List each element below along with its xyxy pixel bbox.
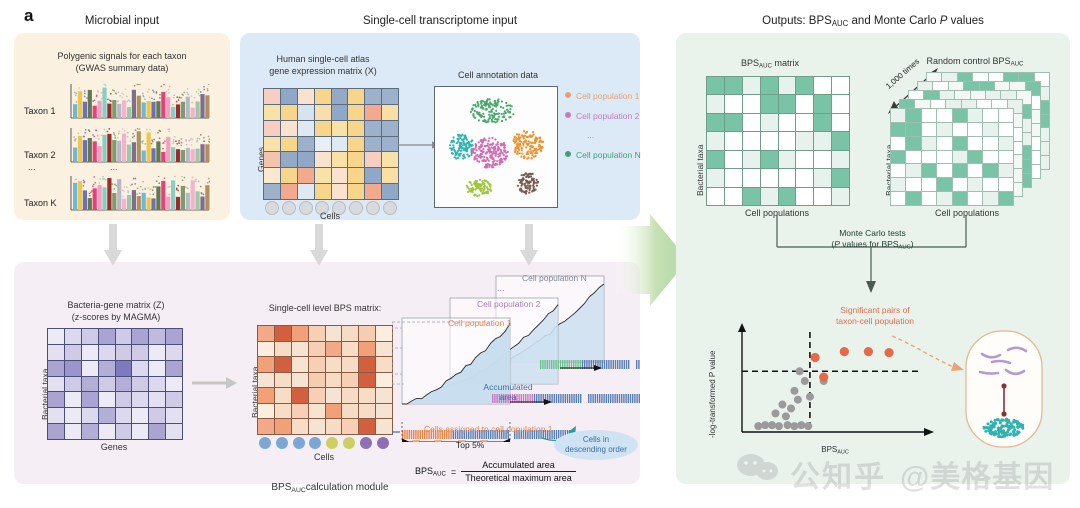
- tsne-point: [505, 102, 507, 104]
- tsne-point: [497, 100, 499, 102]
- manhattan-bar: [73, 104, 77, 118]
- tsne-point: [501, 100, 503, 102]
- manhattan-bar: [156, 141, 160, 162]
- tsne-point: [491, 121, 493, 123]
- zmatrix-caption: Bacteria-gene matrix (Z) (z-scores by MA…: [26, 300, 206, 323]
- cell-population-point: [1013, 426, 1016, 429]
- bps-matrix-caption: Single-cell level BPS matrix:: [240, 303, 410, 315]
- manhattan-bar: [117, 104, 121, 118]
- matrix-cell: [743, 169, 760, 186]
- manhattan-bar: [107, 104, 111, 118]
- matrix-cell: [99, 377, 115, 392]
- matrix-cell: [281, 105, 297, 120]
- cell-population-point: [994, 419, 997, 422]
- matrix-cell: [99, 408, 115, 423]
- matrix-cell: [82, 361, 98, 376]
- matrix-cell: [275, 342, 291, 357]
- matrix-cell: [65, 329, 81, 344]
- manhattan-bar: [98, 185, 102, 210]
- monte-carlo-connector: [700, 215, 1030, 295]
- tsne-point: [500, 151, 502, 153]
- matrix-cell: [922, 123, 936, 136]
- matrix-cell: [953, 109, 967, 122]
- matrix-cell: [382, 184, 398, 199]
- tsne-point: [528, 192, 530, 194]
- manhattan-bar: [147, 133, 151, 163]
- matrix-cell: [906, 151, 920, 164]
- matrix-cell: [953, 192, 967, 205]
- matrix-cell: [707, 151, 724, 168]
- tsne-point: [486, 186, 488, 188]
- tsne-point: [540, 150, 542, 152]
- manhattan-bar: [102, 88, 106, 118]
- matrix-cell: [332, 121, 348, 136]
- arrow-z-to-bps: [192, 376, 238, 390]
- bps-module-label: BPSAUCcalculation module: [200, 482, 460, 494]
- matrix-cell: [365, 105, 381, 120]
- matrix-cell: [65, 424, 81, 439]
- tsne-point: [527, 175, 529, 177]
- matrix-cell: [761, 114, 778, 131]
- tsne-point: [534, 140, 536, 142]
- manhattan-bar: [117, 141, 121, 162]
- manhattan-bar: [171, 147, 175, 162]
- tsne-point: [483, 187, 485, 189]
- tsne-point: [522, 142, 524, 144]
- matrix-cell: [348, 121, 364, 136]
- tsne-point: [467, 191, 469, 193]
- manhattan-bar: [166, 97, 170, 118]
- matrix-cell: [275, 388, 291, 403]
- matrix-cell: [761, 132, 778, 149]
- tsne-point: [460, 149, 462, 151]
- manhattan-bar: [137, 196, 141, 210]
- tsne-point: [505, 118, 507, 120]
- matrix-cell: [82, 329, 98, 344]
- tsne-point: [507, 104, 509, 106]
- matrix-cell: [707, 188, 724, 205]
- taxon-ellipsis: ...: [110, 162, 118, 172]
- tsne-point: [542, 146, 544, 148]
- tsne-point: [496, 160, 498, 162]
- matrix-cell: [332, 168, 348, 183]
- matrix-cell: [116, 408, 132, 423]
- matrix-cell: [814, 188, 831, 205]
- matrix-cell: [761, 151, 778, 168]
- matrix-cell: [359, 357, 375, 372]
- matrix-cell: [359, 342, 375, 357]
- volcano-point: [796, 367, 804, 375]
- matrix-cell: [922, 164, 936, 177]
- auc-curve-stack: .........: [392, 262, 640, 442]
- manhattan-bar: [142, 193, 146, 210]
- manhattan-bar: [137, 96, 141, 118]
- matrix-cell: [814, 77, 831, 94]
- volcano-xlabel: BPSAUC: [790, 445, 880, 456]
- matrix-cell: [376, 388, 392, 403]
- matrix-cell: [779, 188, 796, 205]
- matrix-cell: [298, 89, 314, 104]
- tsne-point: [451, 152, 453, 154]
- matrix-cell: [725, 95, 742, 112]
- matrix-cell: [891, 164, 905, 177]
- volcano-point: [806, 393, 814, 401]
- tsne-point: [485, 103, 487, 105]
- tsne-point: [474, 117, 476, 119]
- matrix-cell: [149, 392, 165, 407]
- tsne-point: [496, 163, 498, 165]
- bacteria-gene-matrix: [47, 328, 183, 440]
- matrix-cell: [382, 105, 398, 120]
- matrix-cell: [116, 345, 132, 360]
- tsne-point: [466, 150, 468, 152]
- matrix-cell: [315, 121, 331, 136]
- tsne-point: [486, 101, 488, 103]
- tsne-point: [451, 149, 453, 151]
- accumulated-area-label: Accumulatedarea: [470, 383, 546, 403]
- matrix-cell: [906, 137, 920, 150]
- manhattan-bar: [122, 199, 126, 210]
- tsne-point: [474, 110, 476, 112]
- curve-ellipsis: ...: [497, 283, 505, 293]
- tsne-point: [515, 148, 517, 150]
- matrix-cell: [99, 392, 115, 407]
- matrix-cell: [275, 357, 291, 372]
- tsne-point: [497, 103, 499, 105]
- tsne-point: [480, 139, 482, 141]
- matrix-cell: [309, 357, 325, 372]
- matrix-cell: [258, 342, 274, 357]
- manhattan-bar: [142, 102, 146, 118]
- matrix-cell: [298, 105, 314, 120]
- matrix-cell: [983, 192, 997, 205]
- matrix-cell: [166, 408, 182, 423]
- tsne-point: [530, 181, 532, 183]
- tsne-point: [483, 156, 485, 158]
- matrix-cell: [275, 419, 291, 434]
- matrix-cell: [342, 357, 358, 372]
- volcano-point: [772, 409, 780, 417]
- matrix-cell: [298, 184, 314, 199]
- tsne-point: [492, 108, 494, 110]
- manhattan-bar: [122, 134, 126, 163]
- tsne-point: [525, 139, 527, 141]
- matrix-cell: [743, 151, 760, 168]
- volcano-point: [804, 422, 812, 430]
- manhattan-bar: [186, 148, 190, 162]
- matrix-cell: [326, 357, 342, 372]
- matrix-cell: [937, 164, 951, 177]
- matrix-cell: [707, 95, 724, 112]
- tsne-point: [466, 154, 468, 156]
- tsne-point: [520, 141, 522, 143]
- tsne-point: [504, 159, 506, 161]
- manhattan-plot: [70, 128, 210, 164]
- tsne-point: [475, 149, 477, 151]
- tsne-point: [478, 194, 480, 196]
- tsne-point: [508, 116, 510, 118]
- tsne-point: [449, 144, 451, 146]
- matrix-cell: [132, 392, 148, 407]
- tsne-point: [492, 104, 494, 106]
- matrix-cell: [166, 345, 182, 360]
- tsne-point: [529, 136, 531, 138]
- tsne-caption: Cell annotation data: [418, 70, 578, 82]
- tsne-point: [532, 146, 534, 148]
- matrix-cell: [999, 137, 1013, 150]
- tsne-point: [488, 140, 490, 142]
- matrix-cell: [99, 424, 115, 439]
- tsne-point: [457, 134, 459, 136]
- matrix-cell: [264, 152, 280, 167]
- manhattan-bar: [171, 107, 175, 118]
- manhattan-bar: [156, 101, 160, 118]
- matrix-cell: [149, 377, 165, 392]
- bps-auc-matrix-ylabel: Bacterial taxa: [695, 145, 705, 197]
- tsne-point: [494, 102, 496, 104]
- tsne-point: [459, 145, 461, 147]
- tsne-point: [477, 102, 479, 104]
- descending-order-callout: Cells indescending order: [554, 430, 638, 460]
- volcano-point: [801, 377, 809, 385]
- matrix-cell: [48, 392, 64, 407]
- volcano-point: [754, 422, 762, 430]
- cell-population-1-label: Cell population 1: [448, 318, 511, 328]
- matrix-cell: [315, 105, 331, 120]
- matrix-cell: [48, 345, 64, 360]
- tsne-point: [492, 142, 494, 144]
- tsne-point: [472, 104, 474, 106]
- manhattan-bar: [102, 187, 106, 210]
- matrix-cell: [983, 109, 997, 122]
- manhattan-bar: [73, 183, 77, 210]
- legend-dot-icon: [565, 151, 571, 157]
- manhattan-plots: Taxon 1Taxon 2Taxon K......: [24, 84, 220, 212]
- manhattan-bar: [132, 90, 136, 118]
- manhattan-bar: [196, 101, 200, 118]
- tsne-point: [494, 160, 496, 162]
- tsne-point: [528, 143, 530, 145]
- matrix-cell: [281, 168, 297, 183]
- cell-population-point: [1012, 421, 1015, 424]
- tsne-point: [513, 138, 515, 140]
- tsne-point: [520, 180, 522, 182]
- cell-population-point: [1016, 425, 1019, 428]
- matrix-cell: [258, 357, 274, 372]
- matrix-cell: [258, 388, 274, 403]
- manhattan-bar: [127, 195, 131, 210]
- cell-population-point: [1003, 425, 1006, 428]
- cell-population-point: [987, 422, 990, 425]
- tsne-point: [519, 143, 521, 145]
- matrix-cell: [65, 345, 81, 360]
- matrix-cell: [264, 184, 280, 199]
- matrix-cell: [258, 326, 274, 341]
- manhattan-bar: [166, 197, 170, 210]
- tsne-point: [500, 161, 502, 163]
- arrow-sc-to-calc-1: [310, 224, 328, 268]
- manhattan-bar: [161, 152, 165, 162]
- manhattan-bar: [73, 148, 77, 163]
- tsne-point: [481, 180, 483, 182]
- matrix-cell: [999, 151, 1013, 164]
- tsne-point: [474, 156, 476, 158]
- tsne-point: [481, 100, 483, 102]
- taxon-label: Taxon 1: [24, 106, 56, 116]
- matrix-cell: [707, 77, 724, 94]
- tsne-point: [487, 158, 489, 160]
- matrix-cell: [326, 404, 342, 419]
- manhattan-bar: [200, 144, 204, 162]
- matrix-cell: [725, 188, 742, 205]
- tsne-point: [514, 141, 516, 143]
- matrix-cell: [983, 164, 997, 177]
- tsne-point: [491, 166, 493, 168]
- tsne-point: [474, 188, 476, 190]
- bacterium-icon: [980, 372, 998, 374]
- tsne-point: [472, 151, 474, 153]
- tsne-point: [516, 144, 518, 146]
- matrix-cell: [953, 151, 967, 164]
- tsne-point: [509, 111, 511, 113]
- matrix-cell: [953, 137, 967, 150]
- tsne-point: [465, 144, 467, 146]
- tsne-point: [505, 152, 507, 154]
- matrix-cell: [342, 342, 358, 357]
- volcano-point: [782, 412, 790, 420]
- tsne-point: [523, 136, 525, 138]
- matrix-cell: [779, 77, 796, 94]
- tsne-point: [503, 154, 505, 156]
- matrix-cell: [359, 326, 375, 341]
- tsne-point: [516, 153, 518, 155]
- tsne-point: [455, 157, 457, 159]
- tsne-point: [494, 164, 496, 166]
- manhattan-bar: [93, 106, 97, 118]
- matrix-cell: [891, 109, 905, 122]
- matrix-cell: [149, 361, 165, 376]
- tsne-point: [500, 144, 502, 146]
- legend-label: Cell population 1: [576, 91, 639, 101]
- matrix-cell: [999, 123, 1013, 136]
- tsne-point: [480, 146, 482, 148]
- tsne-point: [534, 152, 536, 154]
- matrix-cell: [48, 408, 64, 423]
- bps-matrix-xlabel: Cells: [257, 452, 391, 462]
- tsne-point: [459, 137, 461, 139]
- manhattan-bar: [98, 101, 102, 118]
- matrix-cell: [796, 151, 813, 168]
- expression-matrix: [263, 88, 399, 200]
- tsne-point: [522, 144, 524, 146]
- cell-population-point: [997, 432, 1000, 435]
- tsne-point: [539, 140, 541, 142]
- matrix-cell: [332, 152, 348, 167]
- manhattan-bar: [200, 94, 204, 118]
- matrix-cell: [891, 123, 905, 136]
- cell-population-point: [1007, 425, 1010, 428]
- matrix-cell: [832, 132, 849, 149]
- matrix-cell: [814, 151, 831, 168]
- volcano-point-significant: [840, 347, 849, 356]
- manhattan-bar: [147, 198, 151, 210]
- matrix-cell: [149, 424, 165, 439]
- manhattan-bar: [122, 100, 126, 118]
- cell-dot: [293, 437, 305, 449]
- tsne-point: [519, 188, 521, 190]
- matrix-cell: [309, 388, 325, 403]
- matrix-cell: [309, 342, 325, 357]
- matrix-cell: [937, 109, 951, 122]
- tsne-point: [476, 158, 478, 160]
- matrix-cell: [332, 184, 348, 199]
- matrix-cell: [315, 152, 331, 167]
- tsne-point: [525, 187, 527, 189]
- tsne-point: [494, 118, 496, 120]
- cell-population-point: [1008, 433, 1011, 436]
- tsne-point: [511, 105, 513, 107]
- manhattan-bar: [161, 92, 165, 118]
- matrix-cell: [743, 77, 760, 94]
- matrix-cell: [906, 123, 920, 136]
- cell-population-point: [994, 430, 997, 433]
- matrix-cell: [275, 404, 291, 419]
- matrix-cell: [342, 373, 358, 388]
- matrix-cell: [922, 192, 936, 205]
- matrix-cell: [258, 373, 274, 388]
- tsne-point: [501, 158, 503, 160]
- cell-population-point: [1021, 425, 1024, 428]
- tsne-point: [495, 144, 497, 146]
- matrix-cell: [796, 132, 813, 149]
- tsne-point: [526, 180, 528, 182]
- matrix-cell: [281, 184, 297, 199]
- tsne-point: [525, 132, 527, 134]
- tsne-point: [493, 152, 495, 154]
- matrix-cell: [937, 178, 951, 191]
- tsne-point: [529, 173, 531, 175]
- matrix-cell: [315, 168, 331, 183]
- tsne-point: [495, 155, 497, 157]
- volcano-point: [768, 421, 776, 429]
- tsne-point: [493, 112, 495, 114]
- cell-population-point: [1006, 431, 1009, 434]
- tsne-point: [489, 98, 491, 100]
- tsne-point: [497, 141, 499, 143]
- tsne-point: [482, 148, 484, 150]
- tsne-point: [485, 192, 487, 194]
- tsne-point: [522, 177, 524, 179]
- manhattan-bar: [196, 191, 200, 210]
- matrix-cell: [968, 164, 982, 177]
- arrow-micro-to-calc: [104, 224, 122, 268]
- tsne-point: [479, 179, 481, 181]
- tsne-point: [536, 185, 538, 187]
- tsne-point: [532, 173, 534, 175]
- matrix-cell: [166, 361, 182, 376]
- matrix-cell: [359, 419, 375, 434]
- tsne-point: [485, 153, 487, 155]
- tsne-point: [463, 141, 465, 143]
- matrix-cell: [326, 326, 342, 341]
- legend-label: Cell population N: [576, 150, 641, 160]
- matrix-cell: [258, 419, 274, 434]
- manhattan-bar: [191, 108, 195, 118]
- matrix-cell: [298, 168, 314, 183]
- matrix-cell: [309, 326, 325, 341]
- tsne-scatter: [435, 87, 557, 207]
- tsne-point: [517, 151, 519, 153]
